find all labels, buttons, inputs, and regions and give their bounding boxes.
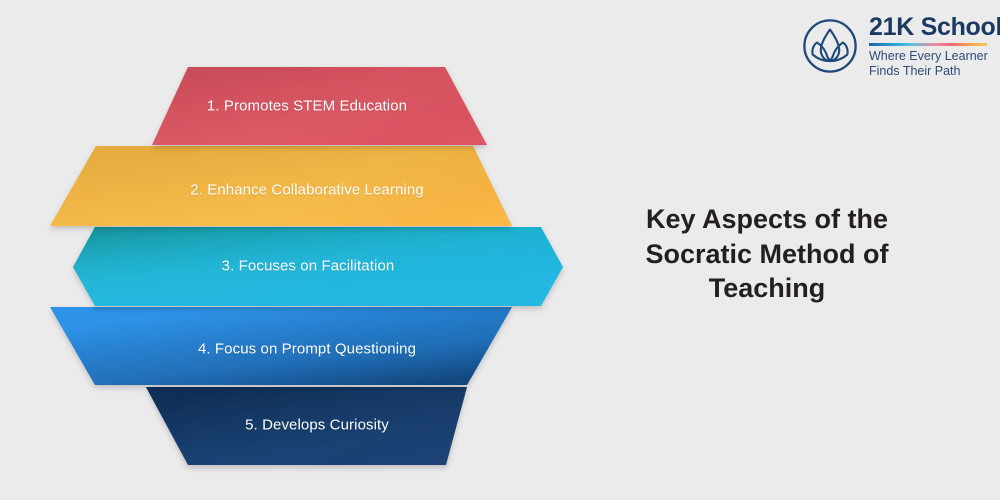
brand-gradient-rule [869,43,987,46]
page-title-line-3: Teaching [612,271,922,306]
page-title: Key Aspects of the Socratic Method of Te… [612,202,922,306]
brand-name: 21K School [869,15,1000,40]
brand-tagline-line-2: Finds Their Path [869,64,1000,79]
brand-tagline: Where Every Learner Finds Their Path [869,49,1000,79]
funnel-band-3-label: 3. Focuses on Facilitation [222,258,395,275]
brand-tagline-line-1: Where Every Learner [869,49,1000,64]
funnel-band-4-label: 4. Focus on Prompt Questioning [198,341,416,358]
brand-logo[interactable]: 21K School Where Every Learner Finds The… [801,8,991,84]
lotus-circle-icon [801,17,859,75]
brand-logo-text: 21K School Where Every Learner Finds The… [869,13,1000,79]
funnel-band-2-label: 2. Enhance Collaborative Learning [190,182,423,199]
funnel-band-1-label: 1. Promotes STEM Education [207,98,407,115]
page-title-line-1: Key Aspects of the [612,202,922,237]
infographic-canvas: 1. Promotes STEM Education 2. Enhance Co… [0,0,1000,500]
page-title-line-2: Socratic Method of [612,237,922,272]
funnel-band-5-label: 5. Develops Curiosity [245,417,389,434]
